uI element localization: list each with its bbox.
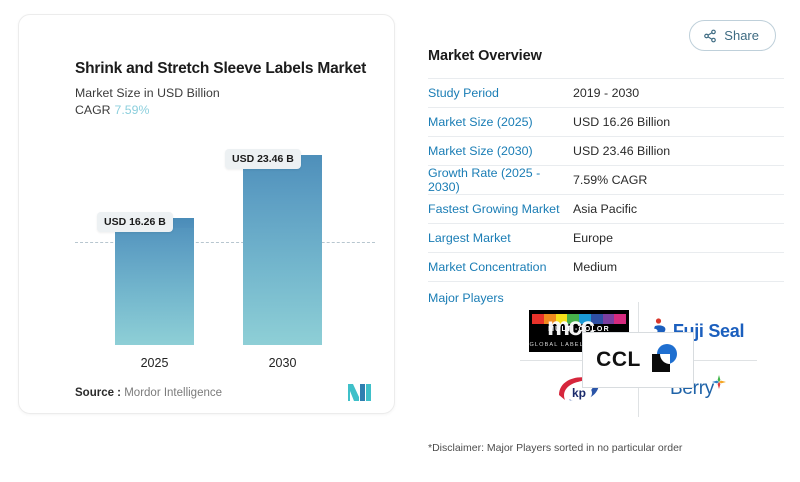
row-value: 7.59% CAGR [573, 173, 647, 187]
row-key: Study Period [428, 86, 573, 100]
berry-pinwheel-icon [712, 375, 726, 394]
overview-row-growth-rate: Growth Rate (2025 - 2030) 7.59% CAGR [428, 165, 784, 194]
market-overview-panel: Market Overview Study Period 2019 - 2030… [428, 48, 784, 314]
overview-row-market-size-2025: Market Size (2025) USD 16.26 Billion [428, 107, 784, 136]
row-value: USD 16.26 Billion [573, 115, 670, 129]
row-value: 2019 - 2030 [573, 86, 639, 100]
share-button-label: Share [724, 28, 759, 43]
bar-label-2025: USD 16.26 B [97, 212, 173, 232]
bar-label-2030: USD 23.46 B [225, 149, 301, 169]
row-value: Medium [573, 260, 617, 274]
row-value: Europe [573, 231, 613, 245]
screenshot-root: Share Shrink and Stretch Sleeve Labels M… [0, 0, 800, 482]
bar-2030 [243, 155, 322, 345]
row-key: Fastest Growing Market [428, 202, 573, 216]
mordor-intelligence-logo-icon [348, 384, 372, 401]
bar-chart-plot: USD 16.26 B USD 23.46 B 2025 2030 [75, 155, 375, 370]
chart-header: Shrink and Stretch Sleeve Labels Market … [75, 59, 376, 117]
source-name: Mordor Intelligence [124, 387, 222, 399]
overview-row-largest-market: Largest Market Europe [428, 223, 784, 252]
chart-subtitle: Market Size in USD Billion [75, 86, 376, 100]
players-disclaimer: *Disclaimer: Major Players sorted in no … [428, 442, 682, 454]
share-button[interactable]: Share [689, 20, 776, 51]
x-tick-2030: 2030 [243, 356, 322, 370]
overview-row-study-period: Study Period 2019 - 2030 [428, 78, 784, 107]
row-key: Growth Rate (2025 - 2030) [428, 166, 573, 194]
chart-cagr: CAGR7.59% [75, 103, 376, 117]
chart-title: Shrink and Stretch Sleeve Labels Market [75, 59, 376, 79]
cagr-label: CAGR [75, 103, 111, 117]
major-players-logo-grid: MULTI-COLOR GLOBAL LABEL SOLUTIONS mcc F… [520, 302, 757, 417]
ccl-mark-icon [646, 343, 680, 378]
cagr-value: 7.59% [115, 103, 150, 117]
overview-row-market-size-2030: Market Size (2030) USD 23.46 Billion [428, 136, 784, 165]
chart-source-row: Source : Mordor Intelligence [75, 384, 372, 401]
ccl-wordmark: CCL [596, 348, 641, 372]
chart-card: Shrink and Stretch Sleeve Labels Market … [18, 14, 395, 414]
row-key: Market Size (2030) [428, 144, 573, 158]
page-shell: Share Shrink and Stretch Sleeve Labels M… [4, 2, 796, 480]
row-key: Market Concentration [428, 260, 573, 274]
row-value: Asia Pacific [573, 202, 637, 216]
source-text: Source : Mordor Intelligence [75, 387, 222, 399]
x-tick-2025: 2025 [115, 356, 194, 370]
source-label: Source : [75, 387, 121, 399]
kp-wordmark: kp [572, 386, 586, 400]
row-key: Largest Market [428, 231, 573, 245]
row-key: Market Size (2025) [428, 115, 573, 129]
overview-row-fastest-growing-market: Fastest Growing Market Asia Pacific [428, 194, 784, 223]
bar-2025 [115, 218, 194, 345]
share-icon [703, 29, 717, 43]
overview-row-market-concentration: Market Concentration Medium [428, 252, 784, 281]
row-value: USD 23.46 Billion [573, 144, 670, 158]
overview-title: Market Overview [428, 48, 784, 78]
player-logo-ccl: CCL [582, 332, 694, 388]
